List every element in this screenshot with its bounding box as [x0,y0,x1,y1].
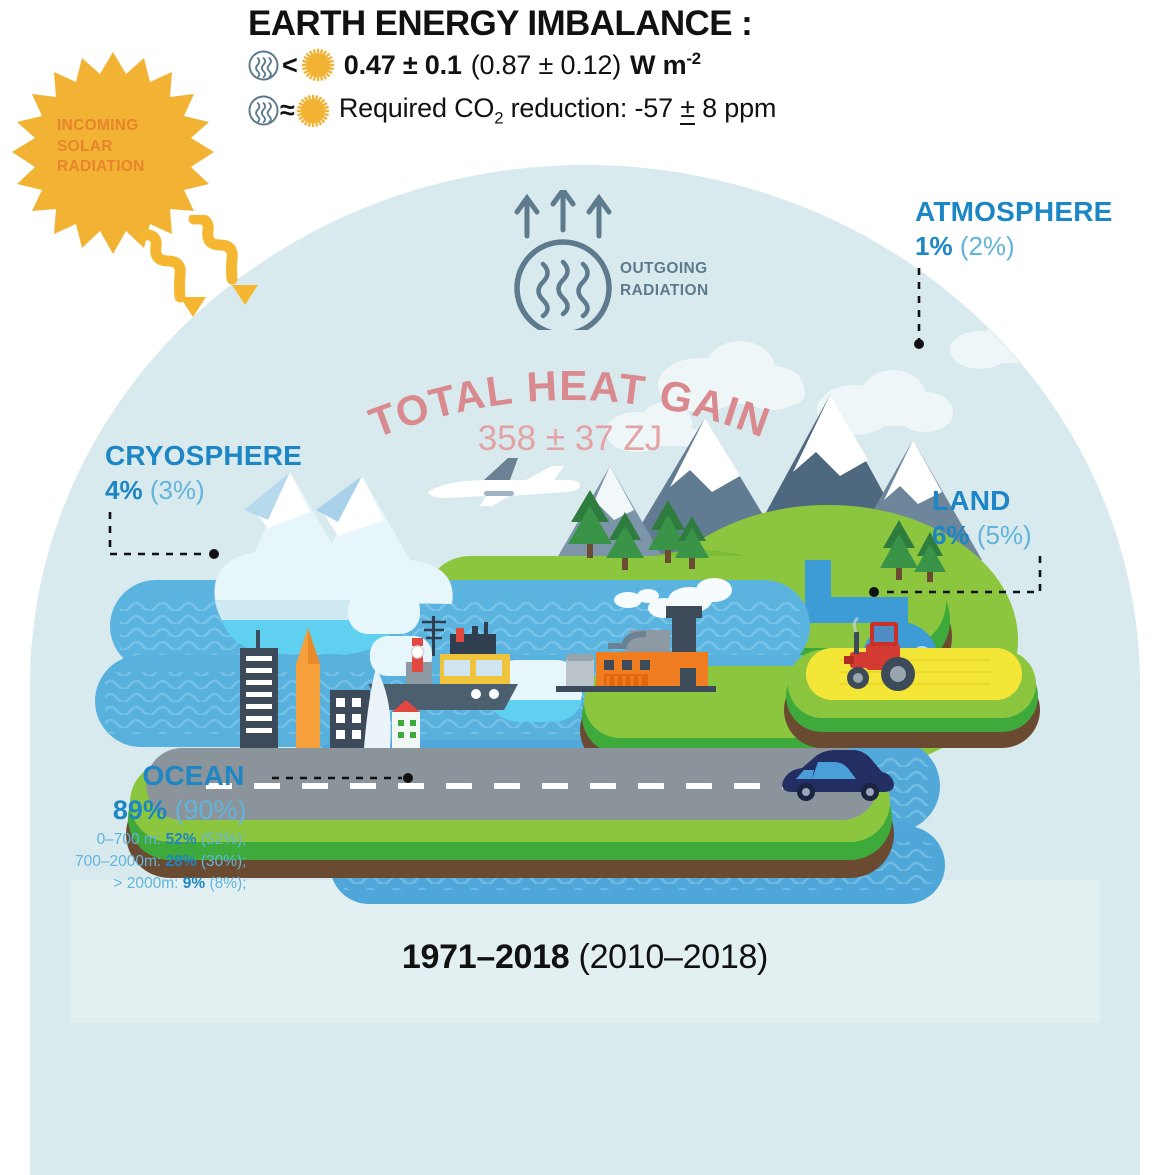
radiation-waves-icon [539,262,588,316]
total-heat-gain-value: 358 ± 37 ZJ [478,419,663,458]
atmosphere-secondary: (2%) [960,231,1015,261]
cryosphere-values: 4% (3%) [105,475,302,506]
ocean-primary: 89% [113,795,167,825]
cryosphere-secondary: (3%) [150,475,205,505]
ocean-depth-row: 700–2000m: 28% (30%); [75,851,247,873]
radiation-circle-icon [517,242,609,330]
page-title: EARTH ENERGY IMBALANCE : [248,4,752,44]
cryosphere-label: CRYOSPHERE [105,442,302,470]
header-line-1: < [247,48,701,82]
depth-secondary: (52%); [197,831,247,848]
depth-primary: 28% [166,853,197,870]
ocean-depth-row: 0–700 m: 52% (52%); [75,829,247,851]
depth-secondary: (30%); [197,853,247,870]
period-bold: 1971–2018 [402,938,569,976]
depth-primary: 9% [183,875,205,892]
depth-range: 700–2000m: [75,853,166,870]
operator-approx: ≈ [280,97,295,124]
land-primary: 6% [932,520,970,550]
leader-line-land [866,556,1046,608]
eei-value: 0.47 ± 0.1(0.87 ± 0.12)W m-2 [344,49,701,81]
eei-units: W m [630,50,686,80]
eei-units-exponent: -2 [686,49,700,68]
ocean-depth-row: > 2000m: 9% (8%); [75,873,247,895]
co2-plusminus: ± [680,93,695,125]
co2-reduction-text: Required CO2 reduction: -57 ± 8 ppm [339,93,776,128]
ocean-depth-breakdown: 0–700 m: 52% (52%); 700–2000m: 28% (30%)… [75,829,247,895]
co2-text-b: reduction: -57 [503,93,680,123]
header-line-2: ≈ [247,93,776,128]
ocean-secondary: (90%) [174,795,246,825]
co2-subscript: 2 [494,108,503,127]
cryosphere-primary: 4% [105,475,143,505]
period-paren: (2010–2018) [579,938,769,976]
atmosphere-values: 1% (2%) [915,231,1113,262]
solar-ray-arrows-icon [128,215,258,335]
atmosphere-label: ATMOSPHERE [915,198,1113,226]
total-heat-gain-group: TOTAL HEAT GAIN 358 ± 37 ZJ [330,340,810,470]
sun-icon [296,94,330,128]
atmosphere-primary: 1% [915,231,953,261]
up-arrows-icon [517,190,609,236]
eei-value-bold: 0.47 ± 0.1 [344,50,462,80]
depth-range: 0–700 m: [97,831,166,848]
callout-cryosphere: CRYOSPHERE 4% (3%) [105,442,302,506]
outgoing-radiation-label: OUTGOING RADIATION [620,258,709,302]
ocean-label: OCEAN [75,762,247,790]
callout-atmosphere: ATMOSPHERE 1% (2%) [915,198,1113,262]
operator-less-than: < [282,52,298,79]
ocean-values: 89% (90%) [75,795,247,827]
depth-secondary: (8%); [205,875,246,892]
outgoing-radiation-line1: OUTGOING [620,258,709,280]
outgoing-radiation-icon [247,49,280,82]
sun-icon [301,48,335,82]
infographic-root: EARTH ENERGY IMBALANCE : < [0,0,1170,1023]
depth-range: > 2000m: [113,875,182,892]
farm-island [784,648,1040,748]
co2-text-c: 8 ppm [695,93,776,123]
header: EARTH ENERGY IMBALANCE : < [0,0,1170,150]
eei-value-paren: (0.87 ± 0.12) [471,50,621,80]
incoming-solar-line3: RADIATION [57,157,187,178]
land-values: 6% (5%) [932,520,1032,551]
leader-line-cryosphere [104,512,224,566]
outgoing-radiation-line2: RADIATION [620,280,709,302]
callout-ocean: OCEAN 89% (90%) 0–700 m: 52% (52%); 700–… [75,762,247,895]
time-period-footer: 1971–2018 (2010–2018) [0,938,1170,977]
co2-text-a: Required CO [339,93,494,123]
leader-line-ocean [272,762,422,792]
leader-line-atmosphere [906,268,936,350]
callout-land: LAND 6% (5%) [932,487,1032,551]
outgoing-radiation-icon [247,94,280,127]
depth-primary: 52% [166,831,197,848]
land-secondary: (5%) [977,520,1032,550]
land-label: LAND [932,487,1032,515]
